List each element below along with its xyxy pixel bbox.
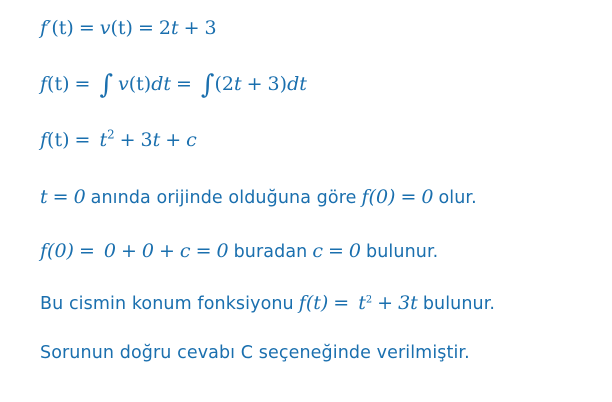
function-symbol-f: f — [40, 129, 47, 151]
math-solution-body: f′(t)=v(t)=2t+3 f(t)=∫v(t)dt=∫(2t+3)dt f… — [0, 0, 612, 402]
coefficient-2: 2 — [222, 73, 234, 95]
variable-t: t — [40, 186, 48, 208]
variable-t-2: t — [153, 129, 161, 151]
argument-0: (0) — [369, 186, 396, 208]
exponent-2: 2 — [366, 295, 372, 306]
variable-t: t — [171, 17, 179, 39]
close-paren: ) — [280, 73, 287, 95]
plus-sign: + — [184, 17, 200, 39]
velocity-symbol-v: v — [100, 17, 111, 39]
argument-t: (t) — [306, 292, 328, 314]
argument-0: (0) — [47, 240, 74, 262]
constant-3: 3 — [268, 73, 280, 95]
value-0-2: 0 — [142, 240, 154, 262]
equals-sign-2: = — [196, 240, 212, 262]
function-symbol-f: f — [361, 186, 368, 208]
argument-t: (t) — [47, 73, 69, 95]
coefficient-3: 3 — [141, 129, 153, 151]
value-0: 0 — [74, 186, 86, 208]
prose-bulunur: bulunur. — [423, 294, 495, 314]
function-symbol-f: f — [40, 73, 47, 95]
prose-bulunur: bulunur. — [366, 242, 438, 262]
equation-line-derivative-velocity: f′(t)=v(t)=2t+3 — [40, 19, 217, 38]
plus-sign: + — [121, 240, 137, 262]
prose-initial-condition: anında orijinde olduğuna göre — [91, 188, 357, 208]
constant-c: c — [180, 240, 191, 262]
coefficient-2: 2 — [159, 17, 171, 39]
argument-t: (t) — [47, 129, 69, 151]
equals-sign: = — [53, 186, 69, 208]
equals-sign-3: = — [328, 240, 344, 262]
statement-line-initial-condition: t=0anında orijinde olduğuna göref(0)=0ol… — [40, 188, 477, 208]
function-symbol-f: f — [299, 292, 306, 314]
equation-line-antiderivative: f(t)=t2+3t+c — [40, 131, 197, 150]
prose-final-answer: Sorunun doğru cevabı C seçeneğinde veril… — [40, 343, 470, 363]
equals-sign: = — [79, 17, 95, 39]
equals-sign: = — [75, 73, 91, 95]
plus-sign: + — [247, 73, 263, 95]
plus-sign-2: + — [159, 240, 175, 262]
constant-c: c — [186, 129, 197, 151]
argument-t: (t) — [51, 17, 73, 39]
constant-c-2: c — [312, 240, 323, 262]
equals-sign: = — [333, 292, 349, 314]
argument-t-2: (t) — [129, 73, 151, 95]
value-0: 0 — [104, 240, 116, 262]
plus-sign: + — [377, 292, 393, 314]
plus-sign-2: + — [165, 129, 181, 151]
argument-t-2: (t) — [111, 17, 133, 39]
plus-sign: + — [120, 129, 136, 151]
coefficient-3: 3 — [398, 292, 410, 314]
function-symbol-f: f — [40, 17, 47, 39]
equals-sign: = — [75, 129, 91, 151]
constant-3: 3 — [205, 17, 217, 39]
variable-t: t — [99, 129, 107, 151]
velocity-symbol-v: v — [118, 73, 129, 95]
exponent-2: 2 — [107, 128, 115, 142]
prose-olur: olur. — [438, 188, 476, 208]
equals-sign: = — [79, 240, 95, 262]
prose-position-function: Bu cismin konum fonksiyonu — [40, 294, 294, 314]
value-0-4: 0 — [349, 240, 361, 262]
function-symbol-f: f — [40, 240, 47, 262]
equals-sign-2: = — [176, 73, 192, 95]
differential-dt: dt — [151, 73, 171, 95]
statement-line-position-function: Bu cismin konum fonksiyonuf(t)=t2+3tbulu… — [40, 294, 495, 314]
value-0-3: 0 — [217, 240, 229, 262]
variable-t-2: t — [410, 292, 418, 314]
differential-dt-2: dt — [287, 73, 307, 95]
statement-line-final-answer: Sorunun doğru cevabı C seçeneğinde veril… — [40, 345, 470, 363]
variable-t: t — [234, 73, 242, 95]
value-0-2: 0 — [421, 186, 433, 208]
variable-t: t — [358, 292, 366, 314]
open-paren: ( — [214, 73, 221, 95]
equals-sign-2: = — [138, 17, 154, 39]
statement-line-solve-constant: f(0)=0+0+c=0buradanc=0bulunur. — [40, 242, 438, 262]
equation-line-integral-setup: f(t)=∫v(t)dt=∫(2t+3)dt — [40, 75, 307, 94]
prose-buradan: buradan — [234, 242, 308, 262]
equals-sign-2: = — [400, 186, 416, 208]
